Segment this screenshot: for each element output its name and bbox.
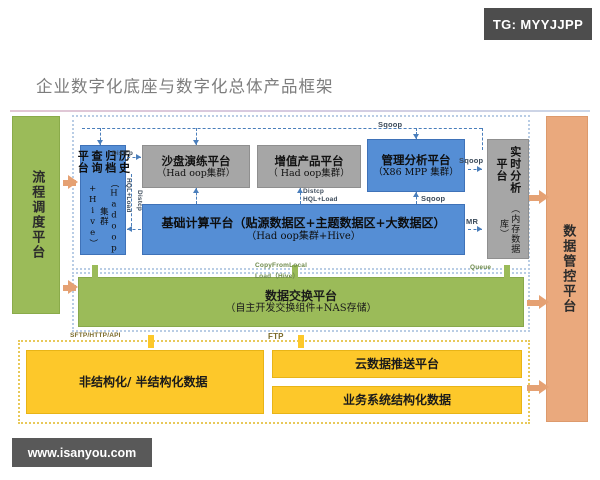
pillar-data-governance[interactable]: 数据管控平台 [546,116,588,422]
arrow-to-governance-2 [527,295,547,310]
pillar-process-scheduling[interactable]: 流程调度平台 [12,116,60,314]
arrowhead-top-archive [97,140,103,145]
box-sandbox-label-2: （Had oop集群） [157,168,236,180]
box-mgmt-label-2: （X86 MPP 集群） [373,167,458,179]
arrow-to-governance-1 [527,190,547,205]
box-exchange-label-1: 数据交换平台 [265,289,337,304]
site-watermark: www.isanyou.com [12,438,152,467]
box-unstructured-label: 非结构化/ 半结构化数据 [27,375,208,390]
arrowhead-top-sandbox [193,140,199,145]
box-cloudpush-label: 云数据推送平台 [355,357,439,372]
arrow-exchange-to-archive [88,258,102,278]
arrow-to-governance-3 [527,380,547,395]
box-base-label-1: 基础计算平台（贴源数据区+主题数据区+大数据区） [161,216,445,231]
page-title: 企业数字化底座与数字化总体产品框架 [36,73,334,97]
label-distcp-vertical: Distcp [136,190,143,211]
box-value-added-platform[interactable]: 增值产品平台 （ Had oop集群） [257,145,361,188]
box-management-analysis-platform[interactable]: 管理分析平台 （X86 MPP 集群） [367,139,465,192]
label-mr: MR [466,217,478,226]
label-distcp-2: Distcp [303,188,324,195]
slide-canvas: TG: MYYJJPP www.isanyou.com 企业数字化底座与数字化总… [0,0,600,480]
label-copyfromlocal: CopyFromLocal [255,262,307,269]
pillar-left-label: 流程调度平台 [29,170,44,260]
box-mgmt-label-1: 管理分析平台 [382,153,451,167]
box-cloud-push-platform[interactable]: 云数据推送平台 [272,350,522,378]
label-sftp-http-api: SFTP/HTTP/API [70,332,121,339]
box-valueadd-label-1: 增值产品平台 [275,154,344,168]
telegram-watermark: TG: MYYJJPP [484,8,592,40]
box-sandbox-platform[interactable]: 沙盘演练平台 （Had oop集群） [142,145,250,188]
arrowhead-base-mgmt [413,192,419,197]
connector-top-bus [82,128,482,129]
pillar-right-label: 数据管控平台 [560,224,575,314]
arrow-from-scheduling-1 [56,175,76,190]
label-distcp-1: Distcp [112,150,133,157]
box-sandbox-label-1: 沙盘演练平台 [162,154,231,168]
box-valueadd-label-2: （ Had oop集群） [268,168,350,180]
box-bizdata-label: 业务系统结构化数据 [343,393,451,408]
arrowhead-mgmt-realtime [477,166,482,172]
box-realtime-analysis-platform[interactable]: 实时分析平台 （内存数据库） [487,139,529,259]
box-base-label-2: （Had oop集群+Hive） [246,231,361,243]
arrowhead-archive-sandbox [136,154,141,160]
label-ftp: FTP [268,332,284,341]
label-sqoop-top: Sqoop [378,120,402,129]
arrowhead-top-mgmt [413,134,419,139]
label-load-hive: Load（Hive） [255,270,299,280]
arrowhead-base-valueadd [297,188,303,193]
arrowhead-base-realtime [477,226,482,232]
arrowhead-base-archive [127,226,132,232]
label-sqoop-mid: Sqoop [421,194,445,203]
connector-top-realtime [482,128,483,150]
label-queue: Queue [470,264,491,271]
box-archive-query-platform[interactable]: 历史归档查询平台 （Hadoop集群+Hive） [80,145,126,255]
label-hql-load-2: HQL+Load [303,196,338,203]
arrow-source-to-exchange-1 [144,328,158,348]
box-data-exchange-platform[interactable]: 数据交换平台 （自主开发交换组件+NAS存储） [78,277,524,327]
arrow-exchange-to-realtime [500,258,514,278]
arrow-source-to-exchange-2 [294,328,308,348]
box-realtime-label-1: 实时分析平台 [494,140,522,200]
label-hql-load-vertical: HQL+Load [125,178,132,213]
arrow-from-scheduling-2 [56,280,76,295]
arrowhead-base-sandbox [193,188,199,193]
label-sqoop-right: Sqoop [459,156,483,165]
box-base-computing-platform[interactable]: 基础计算平台（贴源数据区+主题数据区+大数据区） （Had oop集群+Hive… [142,204,465,255]
box-business-structured-data[interactable]: 业务系统结构化数据 [272,386,522,414]
box-realtime-label-2: （内存数据库） [497,200,520,258]
box-unstructured-data[interactable]: 非结构化/ 半结构化数据 [26,350,264,414]
diagram-area: 流程调度平台 数据管控平台 历史归档 [0,112,600,422]
box-exchange-label-2: （自主开发交换组件+NAS存储） [225,303,376,315]
box-archive-label-2: （Hadoop集群+Hive） [87,179,119,255]
